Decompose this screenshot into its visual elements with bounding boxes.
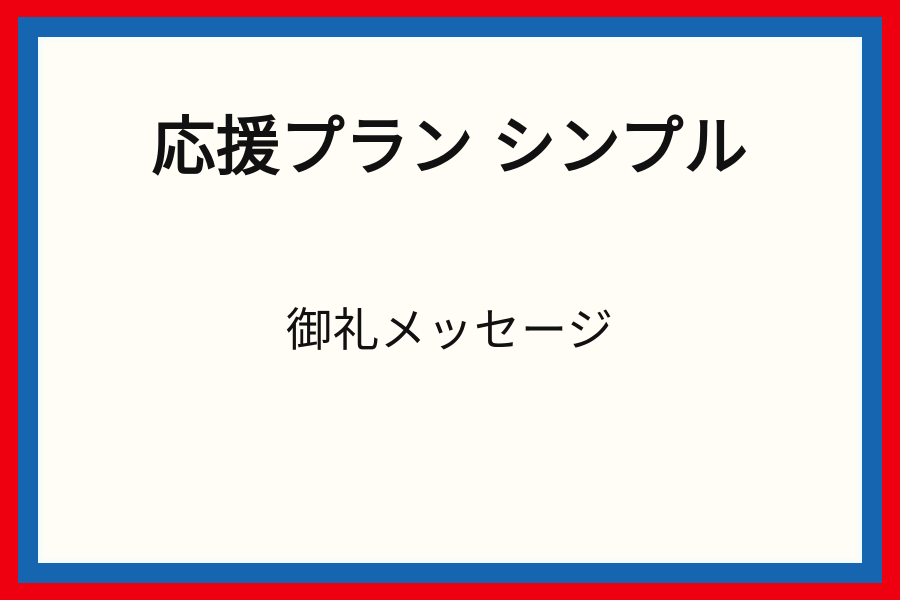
- plan-subtitle: 御礼メッセージ: [38, 307, 862, 353]
- support-plan-card: 応援プラン シンプル 御礼メッセージ: [0, 0, 900, 600]
- plan-title: 応援プラン シンプル: [38, 115, 862, 179]
- card-content-panel: 応援プラン シンプル 御礼メッセージ: [38, 37, 862, 563]
